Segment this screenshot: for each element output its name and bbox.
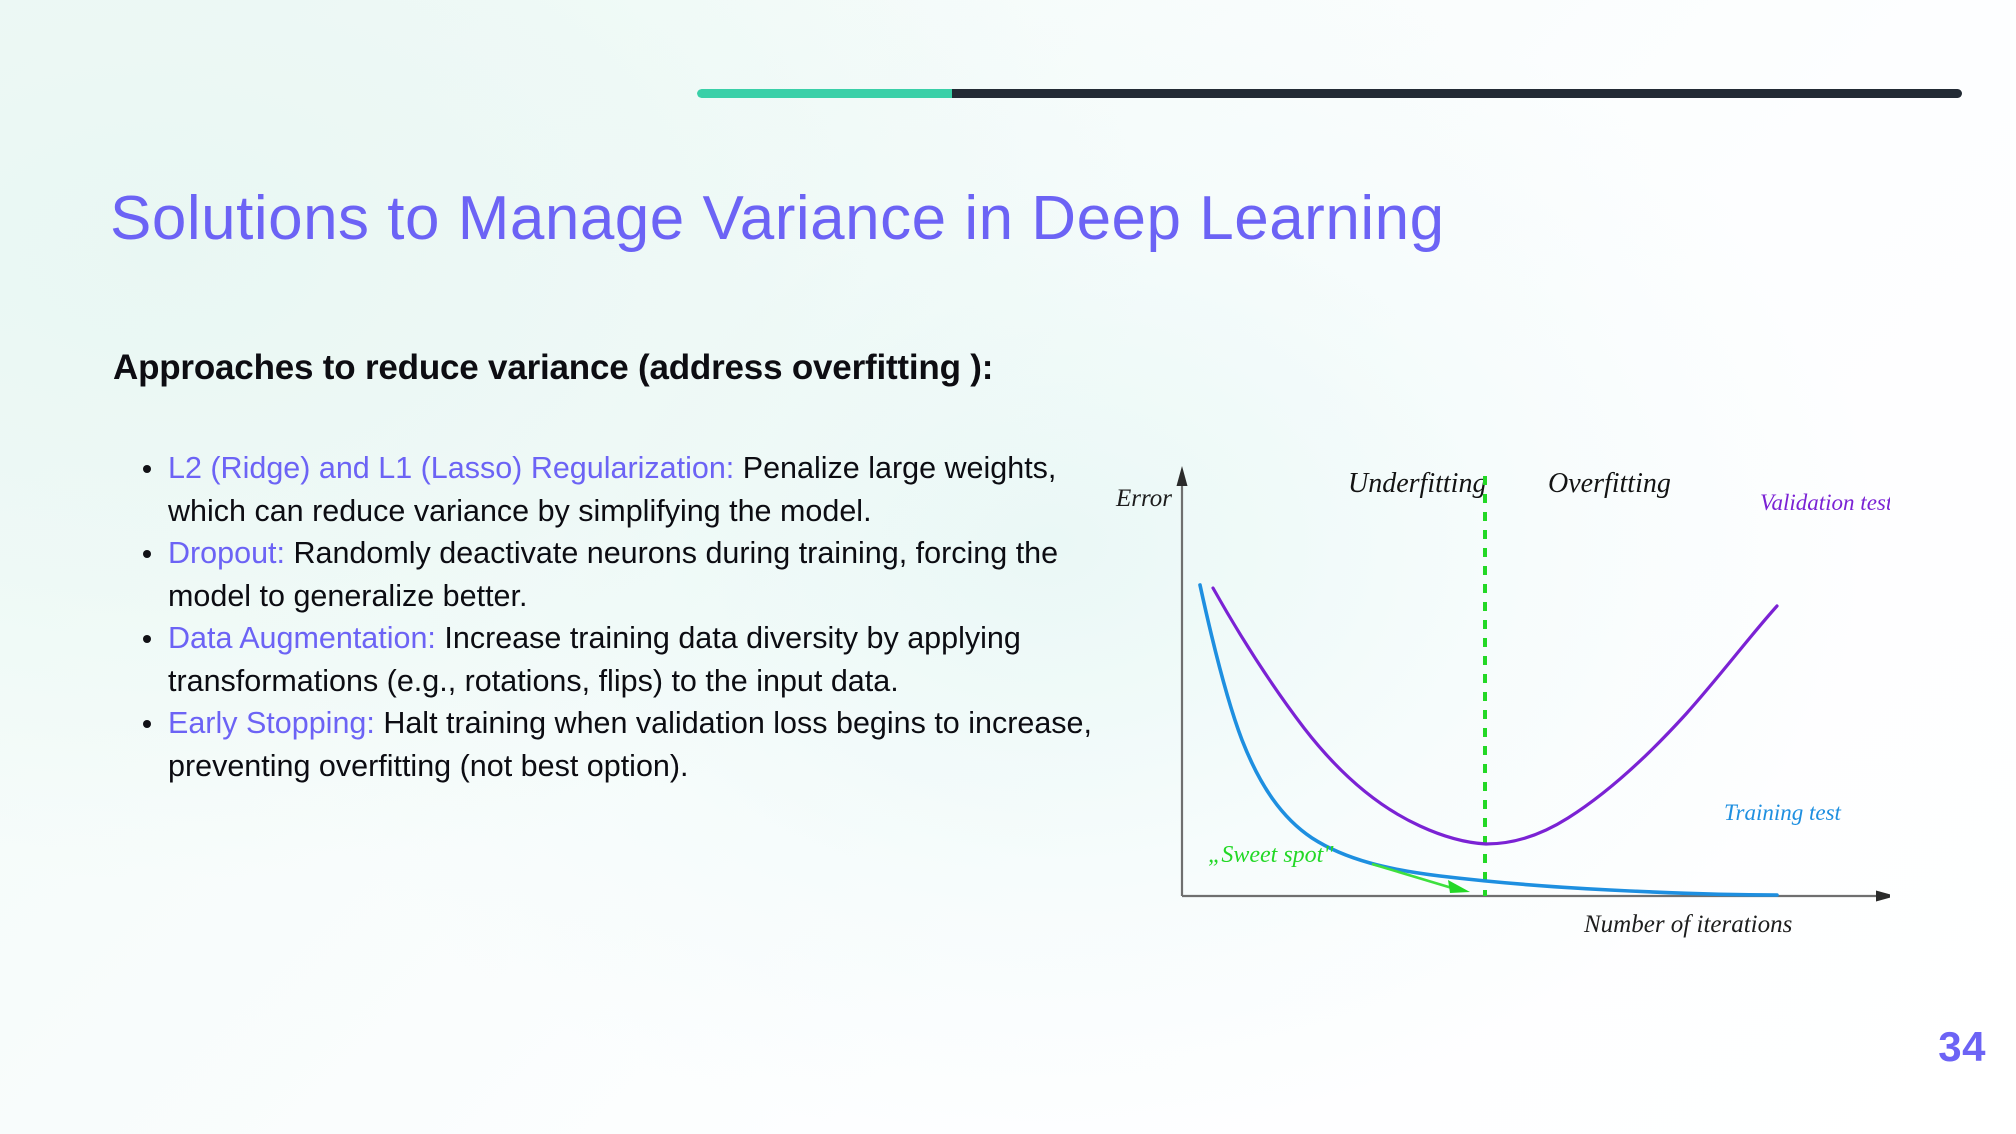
validation-test-curve: [1213, 588, 1777, 844]
bullet-body: Randomly deactivate neurons during train…: [168, 536, 1058, 613]
approaches-bullet-list: L2 (Ridge) and L1 (Lasso) Regularization…: [130, 447, 1110, 787]
list-item: L2 (Ridge) and L1 (Lasso) Regularization…: [130, 447, 1110, 532]
training-test-label: Training test: [1724, 800, 1842, 825]
region-label-underfitting: Underfitting: [1348, 468, 1486, 499]
page-title: Solutions to Manage Variance in Deep Lea…: [110, 186, 1445, 253]
y-axis-label: Error: [1115, 485, 1172, 512]
bullet-term: Dropout:: [168, 536, 285, 570]
bullet-term: L2 (Ridge) and L1 (Lasso) Regularization…: [168, 451, 734, 485]
top-rule-divider: [697, 89, 1962, 98]
bullet-term: Early Stopping:: [168, 706, 375, 740]
validation-test-label: Validation test: [1760, 490, 1890, 515]
sweet-spot-annotation-label: „Sweet spot": [1208, 842, 1334, 868]
page-number: 34: [1938, 1023, 1986, 1071]
list-item: Early Stopping: Halt training when valid…: [130, 702, 1110, 787]
section-heading: Approaches to reduce variance (address o…: [113, 348, 993, 388]
list-item: Dropout: Randomly deactivate neurons dur…: [130, 532, 1110, 617]
x-axis-label: Number of iterations: [1583, 911, 1792, 938]
list-item: Data Augmentation: Increase training dat…: [130, 617, 1110, 702]
slide-canvas: Solutions to Manage Variance in Deep Lea…: [0, 0, 2016, 1134]
y-axis: [1177, 466, 1188, 896]
bullet-term: Data Augmentation:: [168, 621, 436, 655]
top-rule-dark-segment: [952, 89, 1962, 98]
top-rule-accent-segment: [697, 89, 952, 98]
x-axis: [1182, 891, 1890, 902]
region-label-overfitting: Overfitting: [1548, 468, 1671, 499]
overfitting-error-curve-figure: Error Number of iterations Underfitting …: [1090, 440, 1890, 940]
